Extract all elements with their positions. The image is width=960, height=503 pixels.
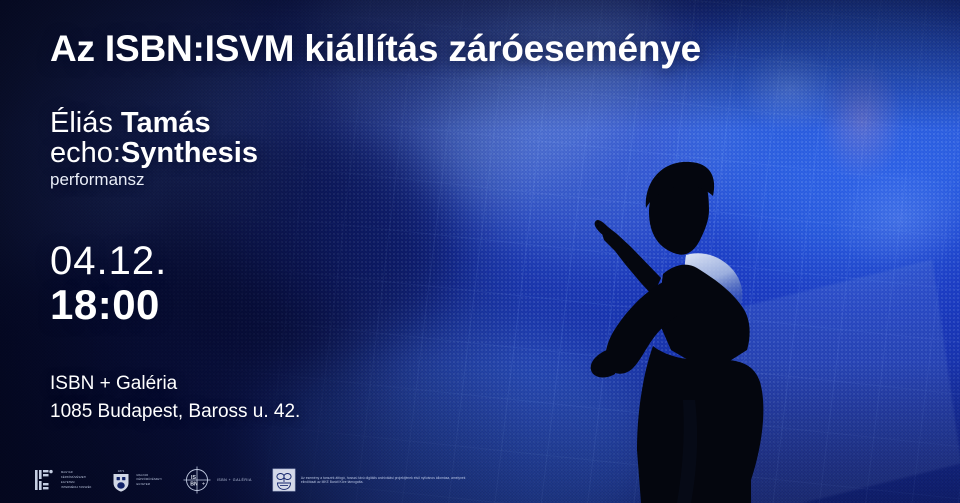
svg-text:+: + (202, 482, 205, 488)
page-title: Az ISBN:ISVM kiállítás záróeseménye (50, 30, 701, 67)
svg-text:1871: 1871 (118, 469, 125, 473)
venue-name: ISBN + Galéria (50, 370, 300, 398)
support-note: Az esemény a tanszék átfogó, hosszú távú… (301, 476, 469, 485)
artist-name-line: Éliás Tamás (50, 108, 258, 138)
logo-line: MAGYAR (136, 474, 161, 477)
logo-mke-intermedia: MAGYAR KÉPZŐMŰVÉSZETI EGYETEM INTERMÉDIA… (34, 467, 91, 493)
logo-mke-shield-text: MAGYAR KÉPZŐMŰVÉSZETI EGYETEM (136, 474, 161, 487)
event-poster: Az ISBN:ISVM kiállítás záróeseménye Éliá… (0, 0, 960, 503)
mke-bar-mark-icon (34, 467, 56, 493)
shield-crest-icon: 1871 (111, 467, 131, 493)
footer-logo-strip: MAGYAR KÉPZŐMŰVÉSZETI EGYETEM INTERMÉDIA… (34, 465, 469, 495)
performer-silhouette (545, 150, 875, 503)
isbn-crosshair-circle-icon: IS BN + (182, 465, 212, 495)
event-time: 18:00 (50, 283, 167, 327)
work-title-line: echo:Synthesis (50, 138, 258, 168)
logo-mke-intermedia-text: MAGYAR KÉPZŐMŰVÉSZETI EGYETEM INTERMÉDIA… (61, 471, 91, 489)
artist-first-name: Éliás (50, 107, 113, 139)
logo-line: INTERMÉDIA TANSZÉK (61, 486, 91, 489)
support-note-row: Az esemény a tanszék átfogó, hosszú távú… (272, 467, 469, 493)
logo-line: KÉPZŐMŰVÉSZETI (61, 476, 91, 479)
work-prefix: echo: (50, 137, 121, 169)
isbn-galeria-wordmark: ISBN + GALÉRIA (217, 478, 252, 482)
logo-isbn-galeria: IS BN + ISBN + GALÉRIA (182, 465, 252, 495)
artist-last-name: Tamás (121, 107, 211, 139)
genre-label: performansz (50, 171, 258, 189)
venue-address: 1085 Budapest, Baross u. 42. (50, 398, 300, 426)
event-datetime: 04.12. 18:00 (50, 240, 167, 327)
event-date: 04.12. (50, 240, 167, 283)
support-note-text: Az esemény a tanszék átfogó, hosszú távú… (301, 476, 469, 485)
svg-text:IS: IS (191, 475, 196, 481)
svg-text:BN: BN (190, 482, 198, 488)
logo-line: KÉPZŐMŰVÉSZETI (136, 478, 161, 481)
logo-line: MAGYAR (61, 471, 91, 474)
mask-face-square-icon (272, 467, 296, 493)
event-location: ISBN + Galéria 1085 Budapest, Baross u. … (50, 370, 300, 425)
work-title: Synthesis (121, 137, 258, 169)
artist-credits: Éliás Tamás echo:Synthesis performansz (50, 108, 258, 189)
logo-line: EGYETEM (136, 483, 161, 486)
logo-line: EGYETEM (61, 481, 91, 484)
logo-mke-shield: 1871 MAGYAR KÉPZŐMŰVÉSZETI EGYETEM (111, 467, 161, 493)
